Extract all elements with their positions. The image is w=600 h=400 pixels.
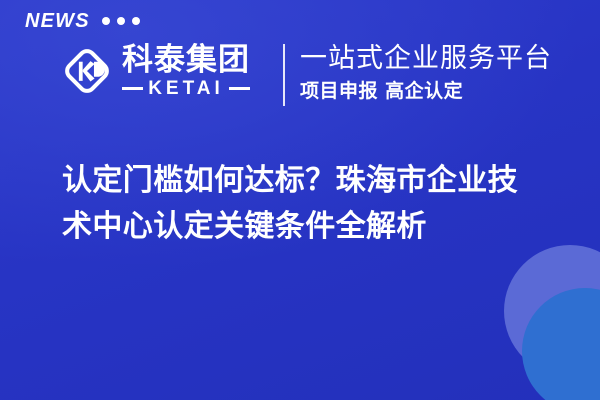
decorative-circle-periwinkle [504, 245, 600, 377]
headline-line: 认定门槛如何达标？珠海市企业技 [62, 158, 532, 204]
news-banner: NEWS 科泰集团 KETAI [0, 0, 600, 400]
brand-name-en: KETAI [148, 79, 224, 98]
news-dot-icon [102, 17, 110, 25]
headline-line: 术中心认定关键条件全解析 [62, 204, 532, 250]
decorative-circle-azure [522, 288, 600, 400]
brand-text-block: 科泰集团 KETAI [122, 44, 250, 98]
tagline-sub: 项目申报 高企认定 [300, 80, 552, 103]
brand-logo-lockup: 科泰集团 KETAI [58, 42, 250, 100]
news-dot-icon [117, 17, 125, 25]
headline: 认定门槛如何达标？珠海市企业技 术中心认定关键条件全解析 [62, 158, 532, 249]
news-eyebrow: NEWS [25, 11, 140, 31]
news-dot-icon [132, 17, 140, 25]
news-dots-icon [102, 17, 140, 25]
header-divider [283, 44, 285, 106]
tagline-block: 一站式企业服务平台 项目申报 高企认定 [300, 43, 552, 103]
ketai-diamond-monogram-icon [58, 42, 116, 100]
brand-rule-left [122, 87, 143, 90]
tagline-main: 一站式企业服务平台 [300, 43, 552, 75]
brand-name-en-row: KETAI [122, 79, 250, 98]
brand-rule-right [229, 87, 250, 90]
brand-name-cn: 科泰集团 [122, 44, 250, 77]
news-label: NEWS [25, 11, 90, 31]
